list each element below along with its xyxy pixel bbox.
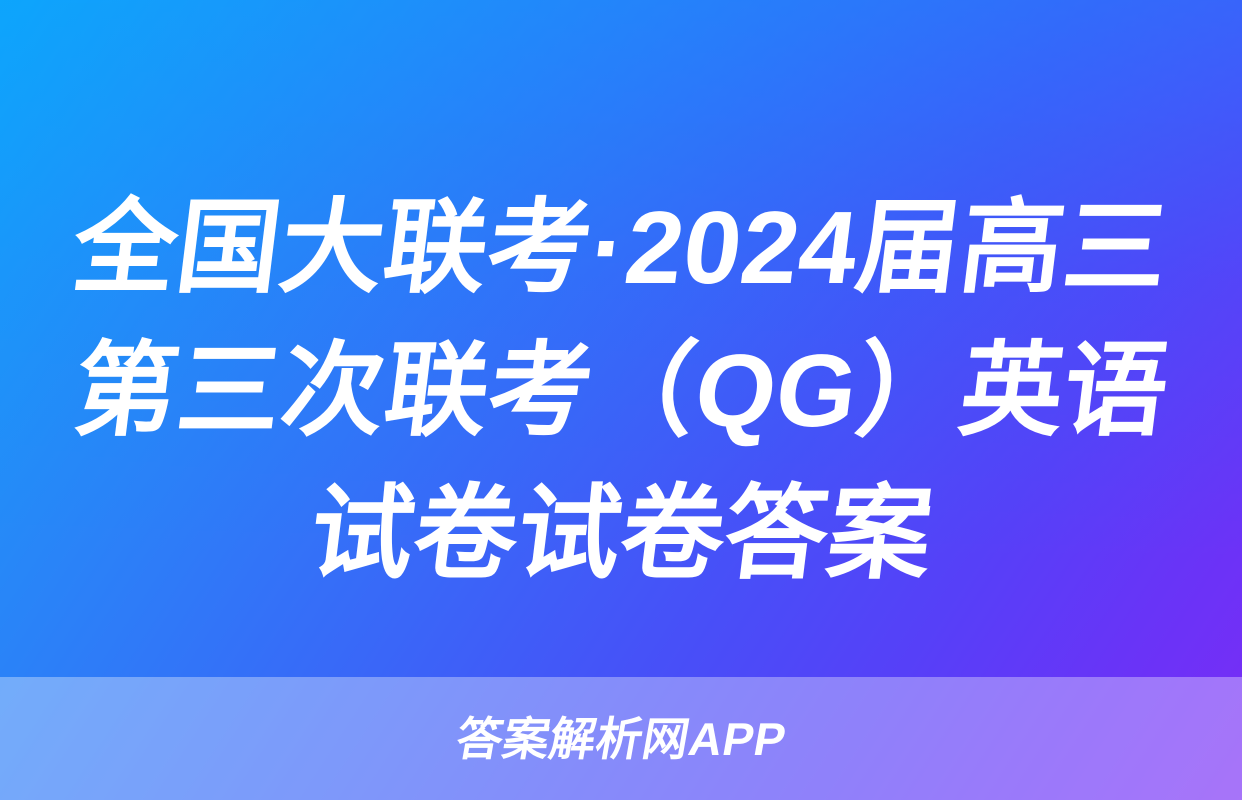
brand-watermark-label: 答案解析网APP	[453, 716, 790, 762]
brand-watermark-band: 答案解析网APP	[0, 677, 1242, 800]
title-line-2: 第三次联考（QG）英语	[66, 319, 1176, 462]
title-line-3: 试卷试卷答案	[302, 462, 941, 605]
title-line-1: 全国大联考·2024届高三	[65, 176, 1176, 319]
poster-canvas: 全国大联考·2024届高三 第三次联考（QG）英语 试卷试卷答案 答案解析网AP…	[0, 0, 1242, 800]
exam-title-block: 全国大联考·2024届高三 第三次联考（QG）英语 试卷试卷答案	[0, 176, 1242, 628]
